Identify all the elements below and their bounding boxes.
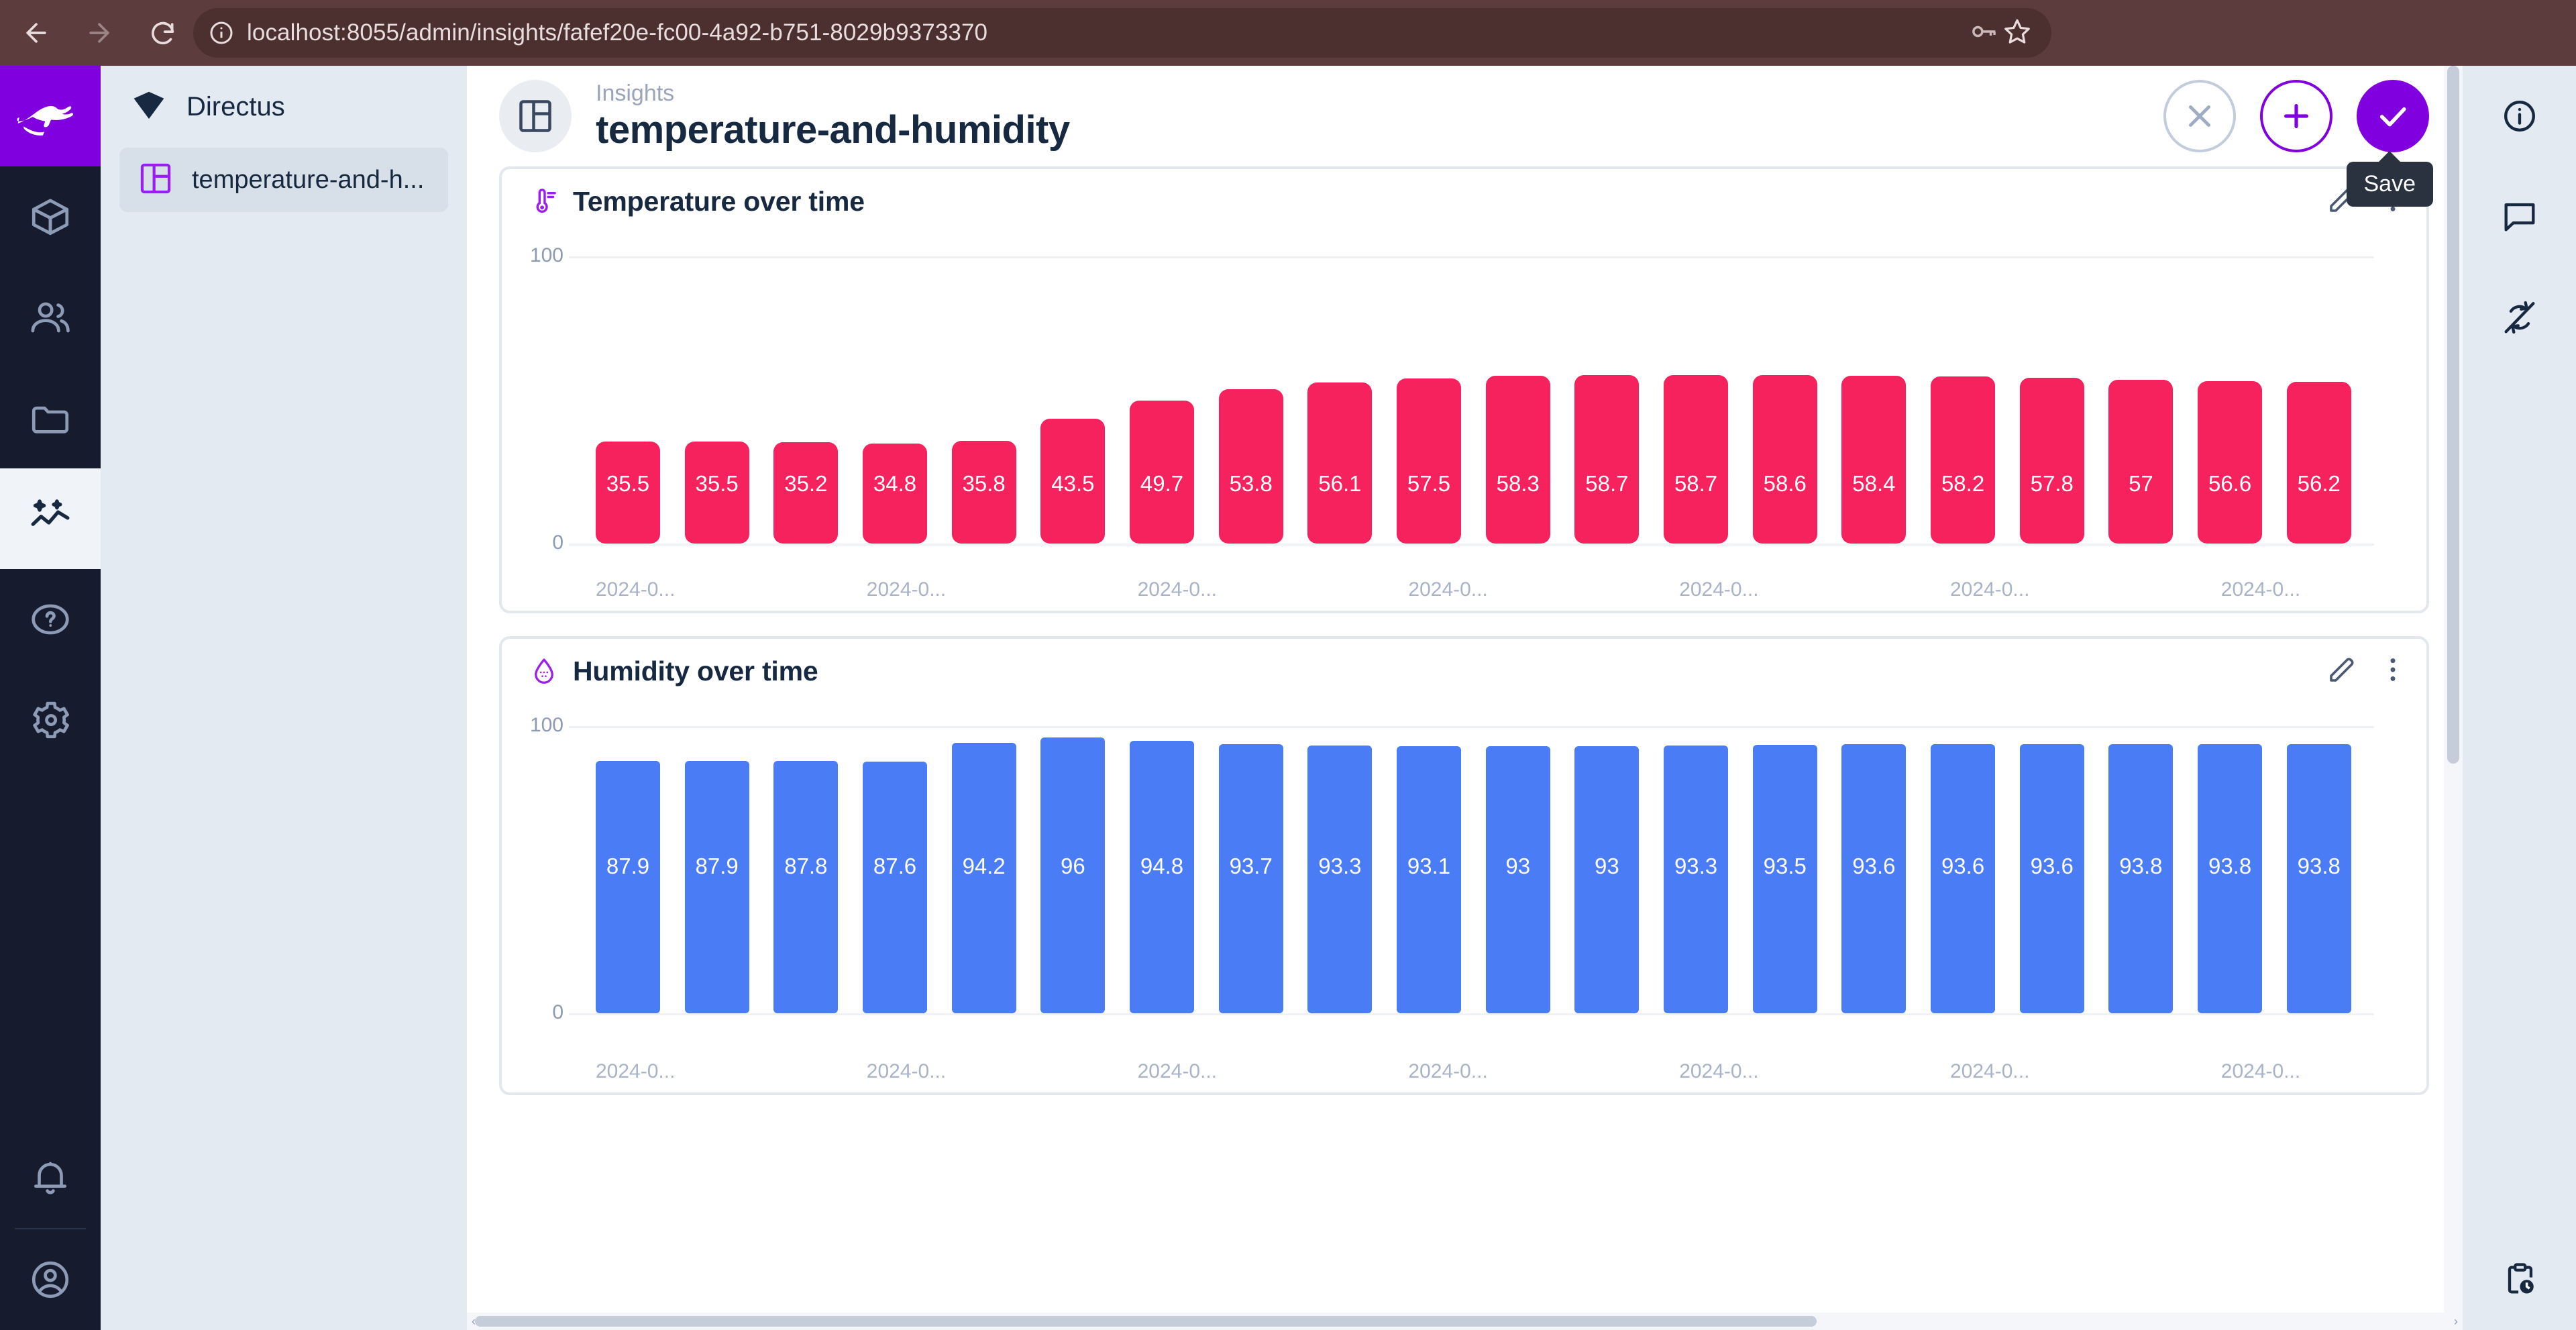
- bar-value-label: 94.2: [963, 854, 1006, 879]
- main-content: Insights temperature-and-humidity Save: [467, 66, 2463, 1330]
- page-title: temperature-and-humidity: [596, 107, 2163, 153]
- bar-value-label: 93.7: [1230, 854, 1273, 879]
- people-icon: [28, 295, 72, 340]
- info-sidebar-button[interactable]: [2463, 66, 2576, 166]
- temperature-x-axis: 2024-0...2024-0...2024-0...2024-0...2024…: [596, 569, 2378, 611]
- bar[interactable]: 58.7: [1574, 375, 1639, 544]
- sidebar-header: Directus: [101, 66, 467, 148]
- panel-temperature: Temperature over time 100035.535.535.234…: [499, 166, 2429, 613]
- bar-value-label: 43.5: [1051, 471, 1094, 497]
- scroll-right-arrow[interactable]: ›: [2449, 1315, 2463, 1328]
- forward-button[interactable]: [72, 6, 126, 60]
- bar[interactable]: 58.4: [1841, 376, 1906, 544]
- back-button[interactable]: [9, 6, 63, 60]
- humidity-drop-icon: [529, 656, 559, 686]
- bar-value-label: 58.2: [1941, 471, 1984, 497]
- bar-value-label: 87.6: [873, 854, 916, 879]
- bar[interactable]: 93.8: [2108, 744, 2173, 1013]
- sidebar-title: Directus: [186, 92, 285, 122]
- more-vertical-icon: [2377, 654, 2409, 686]
- bar[interactable]: 35.2: [773, 442, 838, 544]
- bar-value-label: 93: [1505, 854, 1530, 879]
- bar[interactable]: 34.8: [863, 444, 927, 544]
- bar-value-label: 87.9: [696, 854, 739, 879]
- panel-header: Temperature over time: [502, 169, 2426, 234]
- x-axis-tick-label: 2024-0...: [1138, 1060, 1217, 1083]
- grid-line-zero: [569, 544, 2374, 546]
- save-tooltip: Save: [2347, 162, 2434, 207]
- bar[interactable]: 96: [1040, 737, 1105, 1013]
- bar-value-label: 94.8: [1140, 854, 1183, 879]
- bar[interactable]: 58.6: [1753, 375, 1817, 544]
- bar-value-label: 93.8: [2298, 854, 2341, 879]
- bar[interactable]: 56.1: [1307, 382, 1372, 544]
- bar[interactable]: 93.6: [2020, 744, 2084, 1013]
- x-axis-tick-label: 2024-0...: [596, 578, 675, 601]
- bell-icon: [28, 1156, 72, 1200]
- bar[interactable]: 87.9: [596, 761, 660, 1013]
- sync-disabled-button[interactable]: [2463, 267, 2576, 368]
- bar-value-label: 35.8: [963, 471, 1006, 497]
- bar[interactable]: 57.8: [2020, 378, 2084, 544]
- page-header-icon: [499, 80, 572, 152]
- reload-icon: [148, 18, 177, 48]
- module-item-help[interactable]: [0, 569, 101, 670]
- module-item-account[interactable]: [0, 1229, 101, 1330]
- bar[interactable]: 93.3: [1307, 746, 1372, 1013]
- sidebar-item-temperature-and-humidity[interactable]: temperature-and-h...: [119, 148, 448, 212]
- bar-value-label: 35.2: [784, 471, 827, 497]
- sidebar-item-label: temperature-and-h...: [192, 166, 424, 195]
- bar-value-label: 93.6: [1852, 854, 1895, 879]
- bar-value-label: 93.1: [1407, 854, 1450, 879]
- bar-value-label: 35.5: [696, 471, 739, 497]
- x-axis-tick-label: 2024-0...: [1408, 578, 1487, 601]
- bar-value-label: 93.5: [1764, 854, 1807, 879]
- panel-title: Humidity over time: [573, 656, 818, 687]
- x-axis-tick-label: 2024-0...: [867, 578, 946, 601]
- panel-title: Temperature over time: [573, 186, 865, 217]
- add-panel-button[interactable]: [2260, 80, 2332, 152]
- bar-value-label: 56.6: [2208, 471, 2251, 497]
- bar-value-label: 56.1: [1318, 471, 1361, 497]
- pencil-icon: [2326, 654, 2358, 686]
- bar-value-label: 53.8: [1230, 471, 1273, 497]
- close-x-icon: [2181, 97, 2218, 135]
- version-history-button[interactable]: [2463, 1229, 2576, 1330]
- bar[interactable]: 87.8: [773, 761, 838, 1013]
- module-item-settings[interactable]: [0, 670, 101, 770]
- bar[interactable]: 35.5: [685, 442, 749, 544]
- bar-value-label: 35.5: [606, 471, 649, 497]
- bar-value-label: 57.5: [1407, 471, 1450, 497]
- bar-value-label: 93.6: [2031, 854, 2074, 879]
- bar[interactable]: 87.9: [685, 761, 749, 1013]
- bar-value-label: 57: [2129, 471, 2153, 497]
- bar-value-label: 57.8: [2031, 471, 2074, 497]
- module-item-notifications[interactable]: [0, 1127, 101, 1228]
- x-axis-tick-label: 2024-0...: [1950, 1060, 2029, 1083]
- bar[interactable]: 56.6: [2198, 381, 2262, 544]
- bar[interactable]: 94.8: [1130, 741, 1194, 1013]
- grid-line-zero: [569, 1013, 2374, 1015]
- plus-icon: [2277, 97, 2315, 135]
- sync-disabled-icon: [2500, 298, 2539, 337]
- x-axis-tick-label: 2024-0...: [1679, 1060, 1758, 1083]
- password-key-icon[interactable]: [1968, 16, 1999, 50]
- bar[interactable]: 87.6: [863, 762, 927, 1013]
- navigation-sidebar: Directus temperature-and-h...: [101, 66, 467, 1330]
- bar-value-label: 58.3: [1497, 471, 1540, 497]
- bar[interactable]: 93: [1574, 746, 1639, 1013]
- url-text: localhost:8055/admin/insights/fafef20e-f…: [247, 19, 987, 46]
- bar[interactable]: 49.7: [1130, 401, 1194, 544]
- directus-rabbit-logo[interactable]: [0, 66, 101, 166]
- right-sidebar: [2463, 66, 2576, 1330]
- bar[interactable]: 93.5: [1753, 745, 1817, 1013]
- bar[interactable]: 93.6: [1931, 744, 1995, 1013]
- bar-value-label: 87.9: [606, 854, 649, 879]
- bar-value-label: 58.7: [1674, 471, 1717, 497]
- temperature-chart: 100035.535.535.234.835.843.549.753.856.1…: [502, 234, 2426, 569]
- save-button[interactable]: [2357, 80, 2429, 152]
- bar[interactable]: 58.7: [1664, 375, 1728, 544]
- question-circle-icon: [28, 597, 72, 642]
- bar[interactable]: 94.2: [952, 743, 1016, 1013]
- horizontal-scrollbar-thumb[interactable]: [475, 1316, 1817, 1327]
- rabbit-icon: [13, 94, 87, 138]
- humidity-chart: 100087.987.987.887.694.29694.893.793.393…: [502, 703, 2426, 1051]
- bar-value-label: 96: [1061, 854, 1085, 879]
- dashboard-panel-icon: [137, 160, 174, 201]
- y-axis-tick-label: 100: [515, 244, 563, 267]
- humidity-x-axis: 2024-0...2024-0...2024-0...2024-0...2024…: [596, 1051, 2378, 1092]
- dashboard-panel-icon: [515, 96, 555, 136]
- browser-chrome: localhost:8055/admin/insights/fafef20e-f…: [0, 0, 2576, 66]
- gear-icon: [28, 698, 72, 742]
- back-arrow-icon: [21, 18, 51, 48]
- module-item-files[interactable]: [0, 368, 101, 468]
- bar[interactable]: 93.6: [1841, 744, 1906, 1013]
- panel-edit-button[interactable]: [2326, 654, 2358, 689]
- y-axis-tick-label: 100: [515, 714, 563, 737]
- bar-value-label: 93.8: [2208, 854, 2251, 879]
- x-axis-tick-label: 2024-0...: [867, 1060, 946, 1083]
- vertical-scrollbar-thumb[interactable]: [2447, 66, 2459, 764]
- bar[interactable]: 57.5: [1397, 378, 1461, 544]
- x-axis-tick-label: 2024-0...: [1679, 578, 1758, 601]
- horizontal-scrollbar[interactable]: ‹ ›: [467, 1313, 2463, 1330]
- check-icon: [2374, 97, 2412, 135]
- info-circle-icon: [2500, 97, 2539, 136]
- module-item-users[interactable]: [0, 267, 101, 368]
- bar[interactable]: 93.1: [1397, 746, 1461, 1013]
- panel-more-button[interactable]: [2377, 654, 2409, 689]
- panel-humidity: Humidity over time 100087.987.987.887.69…: [499, 636, 2429, 1095]
- bar-value-label: 49.7: [1140, 471, 1183, 497]
- bar-value-label: 58.4: [1852, 471, 1895, 497]
- thermometer-icon: [529, 186, 559, 217]
- bar[interactable]: 57: [2108, 380, 2173, 544]
- forward-arrow-icon: [85, 18, 114, 48]
- bar[interactable]: 93.8: [2198, 744, 2262, 1013]
- comment-icon: [2500, 197, 2539, 236]
- comments-sidebar-button[interactable]: [2463, 166, 2576, 267]
- bar-value-label: 93.6: [1941, 854, 1984, 879]
- breadcrumb[interactable]: Insights: [596, 79, 2163, 108]
- bar-value-label: 56.2: [2298, 471, 2341, 497]
- bar[interactable]: 93: [1486, 746, 1550, 1013]
- x-axis-tick-label: 2024-0...: [1138, 578, 1217, 601]
- y-axis-tick-label: 0: [515, 531, 563, 554]
- bar-series: 35.535.535.234.835.843.549.753.856.157.5…: [596, 256, 2351, 544]
- bar[interactable]: 35.8: [952, 441, 1016, 544]
- bar[interactable]: 93.3: [1664, 746, 1728, 1013]
- bar[interactable]: 43.5: [1040, 419, 1105, 544]
- bar-series: 87.987.987.887.694.29694.893.793.393.193…: [596, 726, 2351, 1013]
- bar[interactable]: 56.2: [2287, 382, 2351, 544]
- y-axis-tick-label: 0: [515, 1001, 563, 1024]
- bar-value-label: 87.8: [784, 854, 827, 879]
- page-header: Insights temperature-and-humidity Save: [467, 66, 2463, 166]
- bookmark-star-icon[interactable]: [2002, 16, 2033, 50]
- cancel-button[interactable]: [2163, 80, 2236, 152]
- x-axis-tick-label: 2024-0...: [2221, 1060, 2300, 1083]
- bar[interactable]: 53.8: [1219, 389, 1283, 544]
- module-item-content[interactable]: [0, 166, 101, 267]
- panel-header: Humidity over time: [502, 639, 2426, 703]
- bar-value-label: 93.8: [2119, 854, 2162, 879]
- bar-value-label: 58.7: [1585, 471, 1628, 497]
- site-info-icon[interactable]: [200, 11, 243, 54]
- bar[interactable]: 35.5: [596, 442, 660, 544]
- x-axis-tick-label: 2024-0...: [596, 1060, 675, 1083]
- bar-value-label: 93: [1595, 854, 1619, 879]
- header-actions: Save: [2163, 80, 2429, 152]
- account-circle-icon: [28, 1258, 72, 1302]
- vertical-scrollbar[interactable]: [2444, 66, 2463, 1330]
- bar-value-label: 93.3: [1674, 854, 1717, 879]
- bar-value-label: 34.8: [873, 471, 916, 497]
- module-bar: [0, 66, 101, 1330]
- folder-icon: [28, 396, 72, 440]
- x-axis-tick-label: 2024-0...: [2221, 578, 2300, 601]
- module-item-insights[interactable]: [0, 468, 101, 569]
- bar-value-label: 58.6: [1764, 471, 1807, 497]
- reload-button[interactable]: [136, 6, 189, 60]
- insights-trend-icon: [28, 497, 72, 541]
- box-icon: [28, 195, 72, 239]
- directus-mark-icon: [130, 87, 168, 127]
- clipboard-clock-icon: [2500, 1260, 2539, 1299]
- bar[interactable]: 93.8: [2287, 744, 2351, 1013]
- x-axis-tick-label: 2024-0...: [1408, 1060, 1487, 1083]
- bar[interactable]: 58.2: [1931, 376, 1995, 544]
- x-axis-tick-label: 2024-0...: [1950, 578, 2029, 601]
- bar-value-label: 93.3: [1318, 854, 1361, 879]
- bar[interactable]: 58.3: [1486, 376, 1550, 544]
- bar[interactable]: 93.7: [1219, 744, 1283, 1013]
- address-bar[interactable]: localhost:8055/admin/insights/fafef20e-f…: [193, 8, 2051, 58]
